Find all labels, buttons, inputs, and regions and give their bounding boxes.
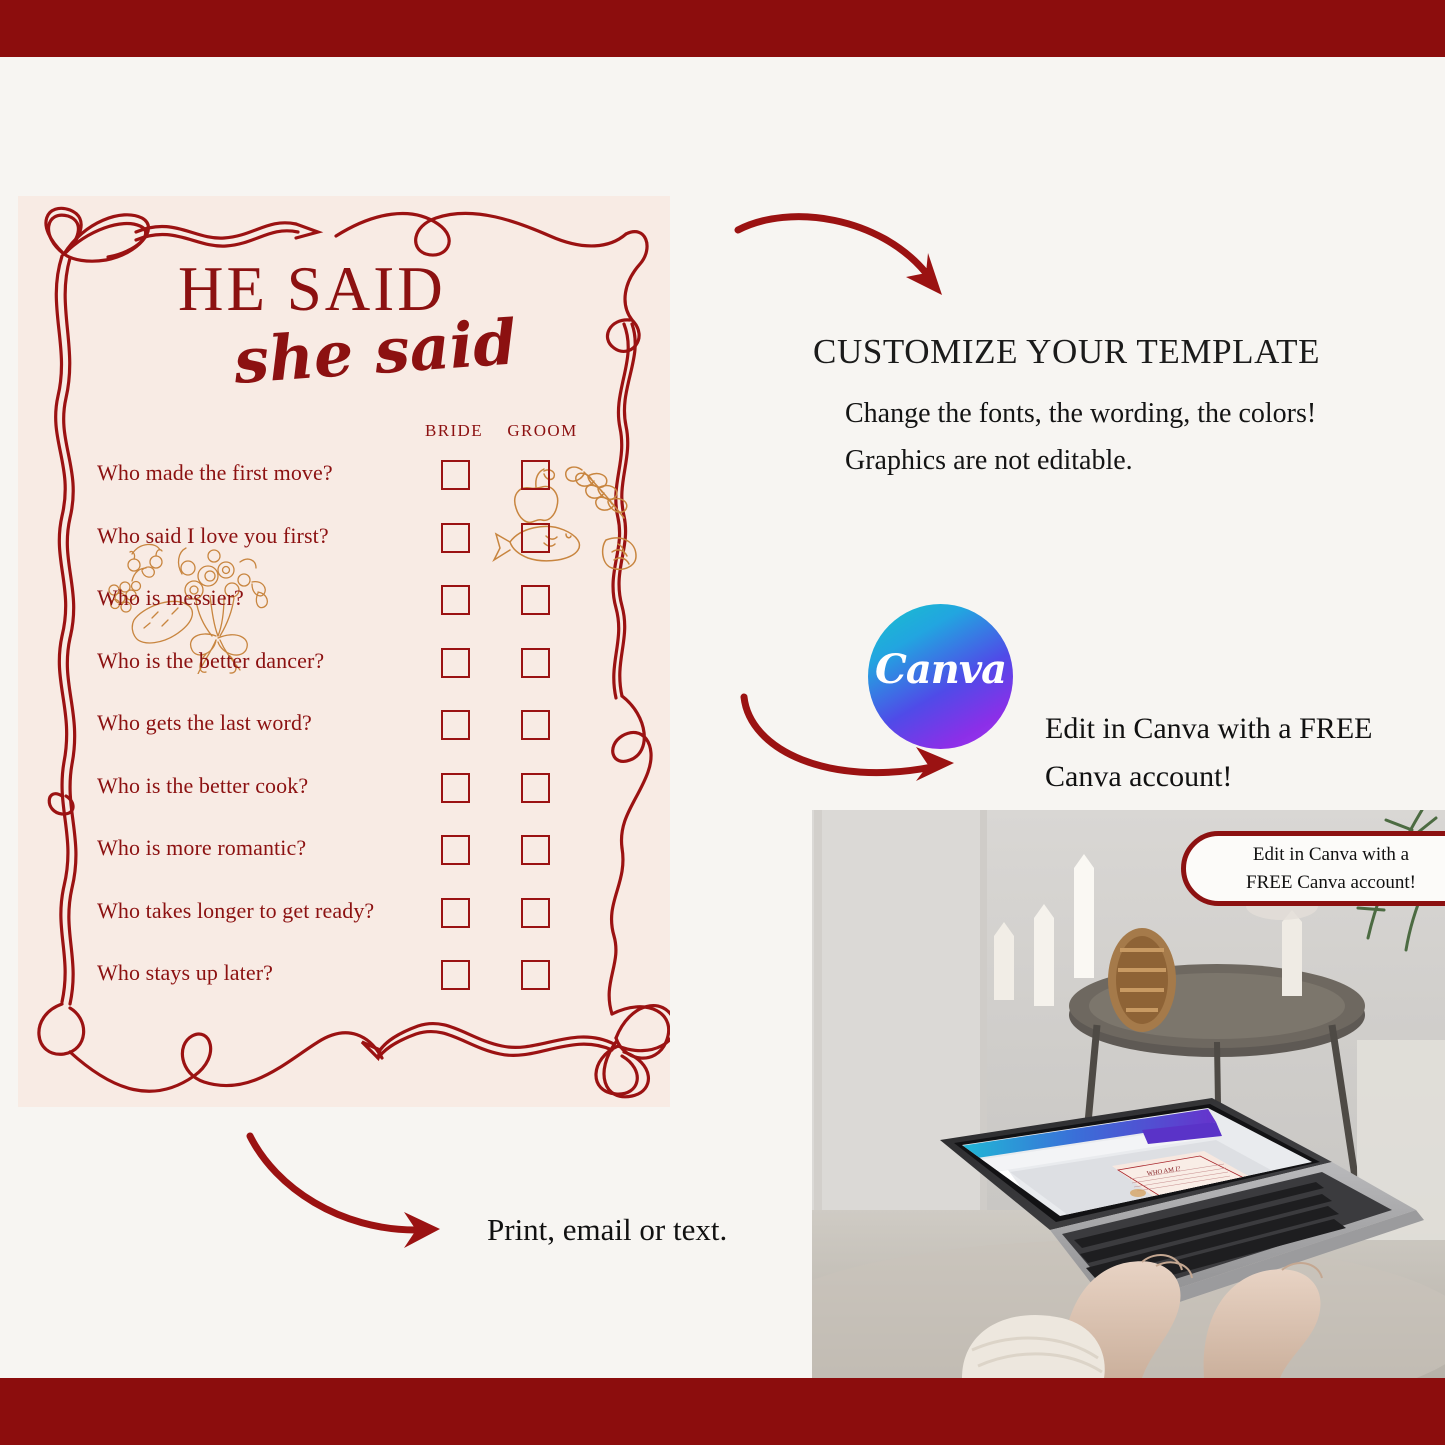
bride-checkbox[interactable] bbox=[441, 835, 470, 865]
question-text: Who takes longer to get ready? bbox=[97, 897, 374, 925]
question-text: Who is messier? bbox=[97, 584, 244, 612]
bride-checkbox[interactable] bbox=[441, 648, 470, 678]
groom-checkbox[interactable] bbox=[521, 960, 550, 990]
customize-heading: CUSTOMIZE YOUR TEMPLATE bbox=[813, 332, 1320, 372]
bride-checkbox[interactable] bbox=[441, 523, 470, 553]
bottom-color-band bbox=[0, 1378, 1445, 1445]
badge-line-1: Edit in Canva with a bbox=[1253, 841, 1409, 869]
arrow-to-print-icon bbox=[240, 1130, 470, 1260]
question-text: Who made the first move? bbox=[97, 459, 333, 487]
question-text: Who is the better cook? bbox=[97, 772, 308, 800]
canva-logo-label: Canva bbox=[868, 604, 1013, 749]
question-row: Who said I love you first? bbox=[18, 522, 670, 562]
edit-in-canva-text: Edit in Canva with a FREE Canva account! bbox=[1045, 705, 1425, 801]
question-row: Who gets the last word? bbox=[18, 709, 670, 749]
canva-logo-icon: Canva bbox=[868, 604, 1013, 749]
question-row: Who made the first move? bbox=[18, 459, 670, 499]
badge-line-2: FREE Canva account! bbox=[1246, 869, 1416, 897]
top-color-band bbox=[0, 0, 1445, 57]
question-row: Who is messier? bbox=[18, 584, 670, 624]
bride-checkbox[interactable] bbox=[441, 585, 470, 615]
question-row: Who is the better dancer? bbox=[18, 647, 670, 687]
arrow-to-customize-icon bbox=[730, 195, 970, 315]
groom-checkbox[interactable] bbox=[521, 898, 550, 928]
column-header-groom: GROOM bbox=[498, 421, 587, 441]
question-row: Who is more romantic? bbox=[18, 834, 670, 874]
question-row: Who takes longer to get ready? bbox=[18, 897, 670, 937]
question-text: Who gets the last word? bbox=[97, 709, 312, 737]
bride-checkbox[interactable] bbox=[441, 773, 470, 803]
groom-checkbox[interactable] bbox=[521, 585, 550, 615]
groom-checkbox[interactable] bbox=[521, 835, 550, 865]
bride-checkbox[interactable] bbox=[441, 460, 470, 490]
print-email-text: Print, email or text. bbox=[487, 1203, 747, 1256]
groom-checkbox[interactable] bbox=[521, 773, 550, 803]
edit-in-canva-badge: Edit in Canva with a FREE Canva account! bbox=[1181, 831, 1445, 906]
groom-checkbox[interactable] bbox=[521, 523, 550, 553]
pinecone-decor bbox=[1108, 928, 1176, 1032]
bride-checkbox[interactable] bbox=[441, 898, 470, 928]
question-text: Who said I love you first? bbox=[97, 522, 329, 550]
question-row: Who is the better cook? bbox=[18, 772, 670, 812]
question-text: Who is the better dancer? bbox=[97, 647, 324, 675]
groom-checkbox[interactable] bbox=[521, 648, 550, 678]
question-text: Who is more romantic? bbox=[97, 834, 306, 862]
question-text: Who stays up later? bbox=[97, 959, 273, 987]
customize-body-text: Change the fonts, the wording, the color… bbox=[845, 390, 1365, 484]
bride-checkbox[interactable] bbox=[441, 710, 470, 740]
he-said-she-said-card: HE SAID she said BRIDE GROOM Who made th… bbox=[18, 196, 670, 1107]
bride-checkbox[interactable] bbox=[441, 960, 470, 990]
question-row: Who stays up later? bbox=[18, 959, 670, 999]
column-header-bride: BRIDE bbox=[418, 421, 490, 441]
groom-checkbox[interactable] bbox=[521, 710, 550, 740]
groom-checkbox[interactable] bbox=[521, 460, 550, 490]
